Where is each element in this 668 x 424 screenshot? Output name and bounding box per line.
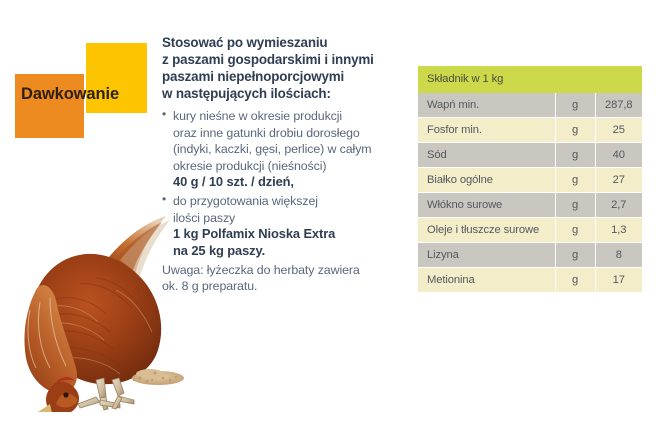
- table-row: Oleje i tłuszcze surowe g 1,3: [418, 218, 642, 243]
- table-header-row: Składnik w 1 kg: [418, 66, 642, 93]
- nutrient-value: 8: [595, 243, 642, 268]
- dosage-list: kury nieśne w okresie produkcji oraz inn…: [162, 108, 410, 259]
- nutrient-value: 25: [595, 118, 642, 143]
- list-item-dose: na 25 kg paszy.: [173, 243, 410, 259]
- nutrient-unit: g: [555, 143, 595, 168]
- nutrient-name: Oleje i tłuszcze surowe: [418, 218, 555, 243]
- nutrient-value: 40: [595, 143, 642, 168]
- logo-square-orange: [15, 74, 84, 138]
- list-item: kury nieśne w okresie produkcji oraz inn…: [162, 108, 410, 190]
- list-item-line: ilości paszy: [173, 210, 410, 226]
- nutrient-name: Fosfor min.: [418, 118, 555, 143]
- nutrient-unit: g: [555, 168, 595, 193]
- table-row: Fosfor min. g 25: [418, 118, 642, 143]
- nutrient-name: Lizyna: [418, 243, 555, 268]
- instructions-block: Stosować po wymieszaniu z paszami gospod…: [162, 34, 410, 295]
- nutrient-name: Sód: [418, 143, 555, 168]
- list-item: do przygotowania większej ilości paszy 1…: [162, 193, 410, 259]
- nutrient-name: Włókno surowe: [418, 193, 555, 218]
- nutrient-unit: g: [555, 243, 595, 268]
- table-row: Metionina g 17: [418, 268, 642, 293]
- nutrient-unit: g: [555, 193, 595, 218]
- instructions-intro: Stosować po wymieszaniu z paszami gospod…: [162, 34, 410, 102]
- usage-note-line: ok. 8 g preparatu.: [162, 278, 410, 294]
- dosage-logo-block: Dawkowanie: [0, 0, 160, 150]
- intro-line: Stosować po wymieszaniu: [162, 34, 410, 51]
- hen-eye: [63, 392, 68, 397]
- nutrient-value: 27: [595, 168, 642, 193]
- list-item-line: do przygotowania większej: [173, 193, 410, 209]
- table-row: Włókno surowe g 2,7: [418, 193, 642, 218]
- list-item-dose: 40 g / 10 szt. / dzień,: [173, 174, 410, 190]
- table-row: Białko ogólne g 27: [418, 168, 642, 193]
- table-header-label: Składnik w 1 kg: [418, 66, 642, 93]
- intro-line: z paszami gospodarskimi i innymi: [162, 51, 410, 68]
- intro-line: w następujących ilościach:: [162, 85, 410, 102]
- nutrient-name: Wapń min.: [418, 93, 555, 118]
- hen-beak: [38, 404, 52, 412]
- usage-note: Uwaga: łyżeczka do herbaty zawiera ok. 8…: [162, 262, 410, 295]
- nutrient-name: Metionina: [418, 268, 555, 293]
- list-item-dose: 1 kg Polfamix Nioska Extra: [173, 226, 410, 242]
- list-item-line: kury nieśne w okresie produkcji: [173, 108, 410, 124]
- nutrient-table: Składnik w 1 kg Wapń min. g 287,8 Fosfor…: [418, 66, 642, 292]
- nutrient-value: 17: [595, 268, 642, 293]
- table-row: Lizyna g 8: [418, 243, 642, 268]
- nutrient-name: Białko ogólne: [418, 168, 555, 193]
- table-row: Wapń min. g 287,8: [418, 93, 642, 118]
- table-body: Wapń min. g 287,8 Fosfor min. g 25 Sód g…: [418, 93, 642, 292]
- dosage-heading: Dawkowanie: [21, 86, 155, 103]
- nutrient-unit: g: [555, 268, 595, 293]
- nutrient-value: 1,3: [595, 218, 642, 243]
- nutrient-unit: g: [555, 118, 595, 143]
- grain-pile: [132, 369, 184, 385]
- list-item-line: okresie produkcji (nieśności): [173, 158, 410, 174]
- nutrient-value: 2,7: [595, 193, 642, 218]
- table-row: Sód g 40: [418, 143, 642, 168]
- usage-note-line: Uwaga: łyżeczka do herbaty zawiera: [162, 262, 410, 278]
- intro-line: paszami niepełnoporcjowymi: [162, 68, 410, 85]
- nutrient-value: 287,8: [595, 93, 642, 118]
- nutrient-unit: g: [555, 93, 595, 118]
- nutrient-unit: g: [555, 218, 595, 243]
- list-item-line: oraz inne gatunki drobiu dorosłego: [173, 125, 410, 141]
- list-item-line: (indyki, kaczki, gęsi, perlice) w całym: [173, 141, 410, 157]
